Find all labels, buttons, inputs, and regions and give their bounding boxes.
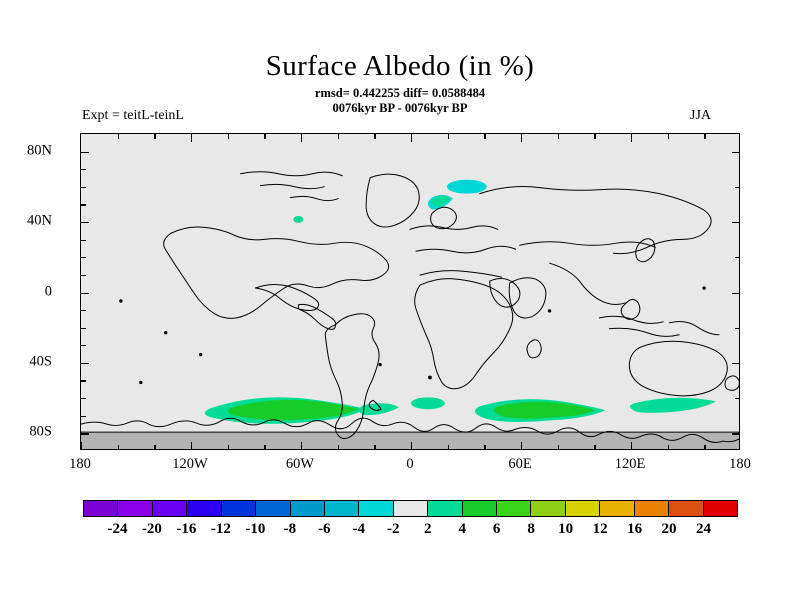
x-axis-label-180W: 180 <box>40 456 120 473</box>
colorbar-label-24: 24 <box>681 521 727 538</box>
island-dot <box>199 353 201 355</box>
x-tick-minor <box>558 445 559 450</box>
island-dot <box>120 300 122 302</box>
x-tick-minor <box>594 445 595 450</box>
y-tick-right <box>732 152 740 153</box>
x-tick-120W <box>191 442 192 450</box>
figure-canvas: Surface Albedo (in %) rmsd= 0.442255 dif… <box>0 0 800 600</box>
x-axis-label-60W: 60W <box>260 456 340 473</box>
x-axis-label-180E: 180 <box>700 456 780 473</box>
colorbar-cell-7 <box>325 501 359 516</box>
colorbar-cell-16 <box>635 501 669 516</box>
x-tick-top-minor <box>594 134 595 139</box>
y-tick-40N <box>81 222 89 223</box>
y-tick-minor <box>81 398 86 399</box>
y-tick-80N <box>81 152 89 153</box>
x-tick-top-minor <box>338 134 339 139</box>
island-dot <box>703 287 705 289</box>
y-tick-minor <box>81 328 86 329</box>
colorbar-cell-13 <box>531 501 565 516</box>
x-tick-minor <box>484 445 485 450</box>
colorbar-cell-17 <box>669 501 703 516</box>
x-tick-60E <box>521 442 522 450</box>
y-axis-label-80N: 80N <box>0 142 52 159</box>
colorbar-cell-2 <box>153 501 187 516</box>
island-dot <box>379 363 381 365</box>
map-background <box>81 134 739 449</box>
x-tick-0 <box>411 442 412 450</box>
island-dot <box>548 310 550 312</box>
colorbar-cell-4 <box>222 501 256 516</box>
y-tick-right-minor <box>735 187 740 188</box>
colorbar-cell-9 <box>394 501 428 516</box>
x-tick-top-minor <box>668 134 669 139</box>
x-axis-label-120E: 120E <box>590 456 670 473</box>
y-tick-40S <box>81 363 89 364</box>
anomaly-south-atlantic <box>411 397 445 409</box>
colorbar-cell-12 <box>497 501 531 516</box>
anomaly-barents <box>447 180 487 194</box>
y-axis-label-80S: 80S <box>0 424 52 441</box>
y-tick-right <box>732 433 740 434</box>
x-tick-120E <box>631 442 632 450</box>
colorbar-cell-14 <box>566 501 600 516</box>
y-tick-right <box>732 363 740 364</box>
x-axis-label-60E: 60E <box>480 456 560 473</box>
x-tick-top-minor <box>558 134 559 139</box>
world-map <box>81 134 739 449</box>
x-tick-minor <box>374 445 375 450</box>
x-tick-minor <box>448 445 449 450</box>
x-tick-top <box>191 134 192 142</box>
island-dot <box>140 381 142 383</box>
colorbar-cell-3 <box>187 501 221 516</box>
y-tick-right-minor <box>735 257 740 258</box>
page-title: Surface Albedo (in %) <box>0 50 800 83</box>
y-tick-minor <box>81 275 86 276</box>
antarctica-landmass <box>81 432 739 449</box>
season-label: JJA <box>690 108 711 124</box>
x-axis-label-0: 0 <box>370 456 450 473</box>
y-tick-minor <box>81 310 86 311</box>
x-tick-minor <box>338 445 339 450</box>
colorbar-cell-11 <box>463 501 497 516</box>
y-tick-0 <box>81 293 89 294</box>
island-dot <box>429 376 432 379</box>
x-tick-minor <box>228 445 229 450</box>
y-tick-minor <box>81 240 86 241</box>
x-tick-top <box>411 134 412 142</box>
x-tick-top-minor <box>154 134 155 139</box>
y-tick-minor <box>81 187 86 188</box>
x-tick-top-minor <box>484 134 485 139</box>
y-tick-right <box>732 222 740 223</box>
x-axis-label-120W: 120W <box>150 456 230 473</box>
x-tick-minor <box>704 445 705 450</box>
y-tick-minor <box>81 345 86 346</box>
x-tick-180W <box>81 442 82 450</box>
y-axis-label-40S: 40S <box>0 354 52 371</box>
island-dot <box>165 332 167 334</box>
colorbar-cell-6 <box>291 501 325 516</box>
y-tick-minor <box>81 416 86 417</box>
x-tick-top-minor <box>264 134 265 139</box>
statistics-line: rmsd= 0.442255 diff= 0.0588484 <box>0 86 800 101</box>
x-tick-top <box>301 134 302 142</box>
x-tick-minor <box>154 445 155 450</box>
y-tick-right-minor <box>735 328 740 329</box>
y-axis-label-0: 0 <box>0 283 52 300</box>
y-axis-label-40N: 40N <box>0 213 52 230</box>
colorbar-cell-8 <box>359 501 393 516</box>
y-tick-minor <box>81 169 86 170</box>
colorbar-cell-0 <box>84 501 118 516</box>
colorbar-cell-1 <box>118 501 152 516</box>
colorbar-cell-15 <box>600 501 634 516</box>
colorbar[interactable] <box>83 500 738 517</box>
y-tick-minor <box>81 380 86 381</box>
experiment-label: Expt = teitL-teinL <box>82 108 184 124</box>
x-tick-top-minor <box>704 134 705 139</box>
y-tick-right-minor <box>735 398 740 399</box>
x-tick-60W <box>301 442 302 450</box>
y-tick-80S <box>81 433 89 434</box>
x-tick-minor <box>118 445 119 450</box>
x-tick-top-minor <box>228 134 229 139</box>
colorbar-cell-18 <box>704 501 737 516</box>
x-tick-minor <box>264 445 265 450</box>
y-tick-right <box>732 293 740 294</box>
x-tick-top-minor <box>374 134 375 139</box>
colorbar-cell-10 <box>428 501 462 516</box>
x-tick-top <box>521 134 522 142</box>
x-tick-180E <box>739 442 740 450</box>
map-plot-area[interactable] <box>80 133 740 450</box>
x-tick-minor <box>668 445 669 450</box>
anomaly-labrador <box>293 216 303 223</box>
colorbar-cell-5 <box>256 501 290 516</box>
x-tick-top-minor <box>118 134 119 139</box>
y-tick-minor <box>81 257 86 258</box>
y-tick-minor <box>81 204 86 205</box>
x-tick-top-minor <box>448 134 449 139</box>
x-tick-top <box>631 134 632 142</box>
